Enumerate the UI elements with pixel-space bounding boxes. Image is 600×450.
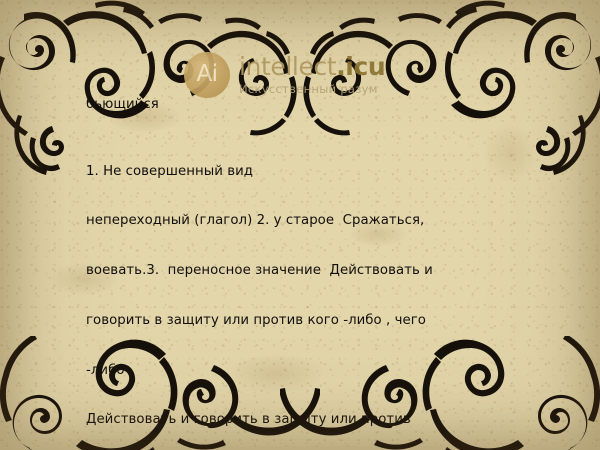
article-line: 1. Не совершенный вид [86,164,538,181]
headword: бьющийся [86,97,538,114]
article-line: -либо [86,363,538,380]
article-line: воевать.3. переносное значение Действова… [86,263,538,280]
article-line: говорить в защиту или против кого -либо … [86,313,538,330]
article-line: непереходный (глагол) 2. у старое Сражат… [86,213,538,230]
slide-canvas: Ai intellect.icu Искусственный разум бью… [0,0,600,450]
article-line: Действовать и говорить в защиту или прот… [86,412,538,429]
dictionary-article-text: бьющийся 1. Не совершенный вид непереход… [86,64,538,450]
